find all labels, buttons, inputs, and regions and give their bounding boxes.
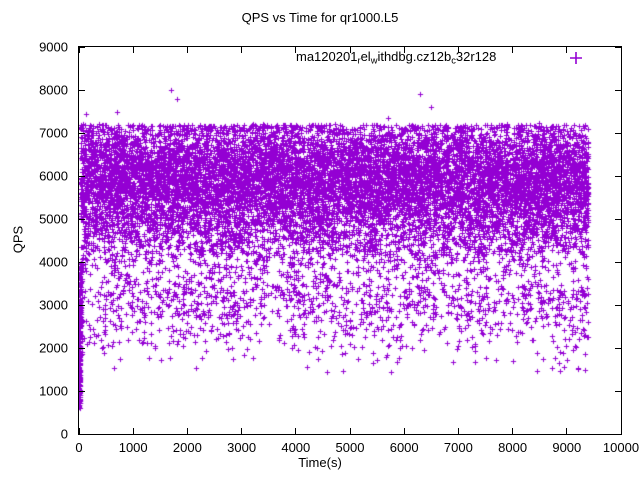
- y-tick-mark: [79, 176, 85, 177]
- y-tick-label-1000: 1000: [10, 384, 68, 399]
- x-tick-label-3000: 3000: [227, 440, 256, 455]
- y-tick-label-8000: 8000: [10, 83, 68, 98]
- legend-name-part-0: ma120201: [296, 49, 357, 64]
- y-tick-label-9000: 9000: [10, 40, 68, 55]
- y-tick-label-0: 0: [10, 427, 68, 442]
- x-tick-mark: [133, 428, 134, 434]
- x-tick-mark: [79, 47, 80, 53]
- x-tick-mark: [404, 428, 405, 434]
- x-tick-mark: [350, 428, 351, 434]
- x-tick-label-0: 0: [75, 440, 82, 455]
- x-tick-label-2000: 2000: [173, 440, 202, 455]
- chart-page: QPS vs Time for qr1000.L5 01000200030004…: [0, 0, 640, 480]
- x-tick-mark: [133, 47, 134, 53]
- x-tick-mark: [512, 428, 513, 434]
- y-tick-mark: [79, 348, 85, 349]
- x-tick-mark: [566, 428, 567, 434]
- plot-area: [78, 46, 622, 435]
- y-tick-mark: [79, 305, 85, 306]
- x-tick-mark: [621, 428, 622, 434]
- y-tick-mark: [615, 90, 621, 91]
- y-tick-label-2000: 2000: [10, 341, 68, 356]
- y-tick-mark: [615, 133, 621, 134]
- y-tick-mark: [615, 219, 621, 220]
- legend-plus-marker-icon: [566, 48, 586, 68]
- y-tick-mark: [615, 348, 621, 349]
- x-axis-title: Time(s): [0, 455, 640, 470]
- x-tick-label-7000: 7000: [444, 440, 473, 455]
- page-title: QPS vs Time for qr1000.L5: [0, 10, 640, 25]
- x-tick-label-1000: 1000: [119, 440, 148, 455]
- y-tick-mark: [79, 219, 85, 220]
- legend-entry-label: ma120201relwithdbg.cz12bc32r128: [296, 49, 496, 65]
- x-tick-mark: [241, 47, 242, 53]
- legend-name-part-4: ithdbg.cz12b: [377, 49, 451, 64]
- x-tick-mark: [512, 47, 513, 53]
- legend-name-part-2: el: [361, 49, 371, 64]
- x-tick-label-9000: 9000: [552, 440, 581, 455]
- x-tick-mark: [621, 47, 622, 53]
- x-tick-label-4000: 4000: [281, 440, 310, 455]
- y-tick-label-3000: 3000: [10, 298, 68, 313]
- x-tick-label-5000: 5000: [336, 440, 365, 455]
- y-tick-label-6000: 6000: [10, 169, 68, 184]
- y-tick-label-7000: 7000: [10, 126, 68, 141]
- x-tick-mark: [79, 428, 80, 434]
- x-tick-mark: [187, 428, 188, 434]
- x-tick-mark: [458, 428, 459, 434]
- scatter-plot-canvas: [79, 47, 621, 434]
- x-tick-mark: [187, 47, 188, 53]
- y-axis-title: QPS: [11, 210, 26, 270]
- y-tick-mark: [615, 391, 621, 392]
- y-tick-mark: [615, 176, 621, 177]
- y-tick-mark: [79, 391, 85, 392]
- y-tick-mark: [79, 434, 85, 435]
- x-tick-label-6000: 6000: [390, 440, 419, 455]
- y-tick-mark: [615, 305, 621, 306]
- y-tick-mark: [615, 262, 621, 263]
- x-tick-mark: [241, 428, 242, 434]
- y-tick-mark: [79, 90, 85, 91]
- y-tick-mark: [79, 47, 85, 48]
- x-tick-mark: [295, 428, 296, 434]
- legend-name-part-6: 32r128: [456, 49, 496, 64]
- y-tick-mark: [79, 262, 85, 263]
- x-tick-label-8000: 8000: [498, 440, 527, 455]
- y-tick-mark: [79, 133, 85, 134]
- x-tick-label-10000: 10000: [603, 440, 639, 455]
- legend: ma120201relwithdbg.cz12bc32r128: [296, 47, 496, 67]
